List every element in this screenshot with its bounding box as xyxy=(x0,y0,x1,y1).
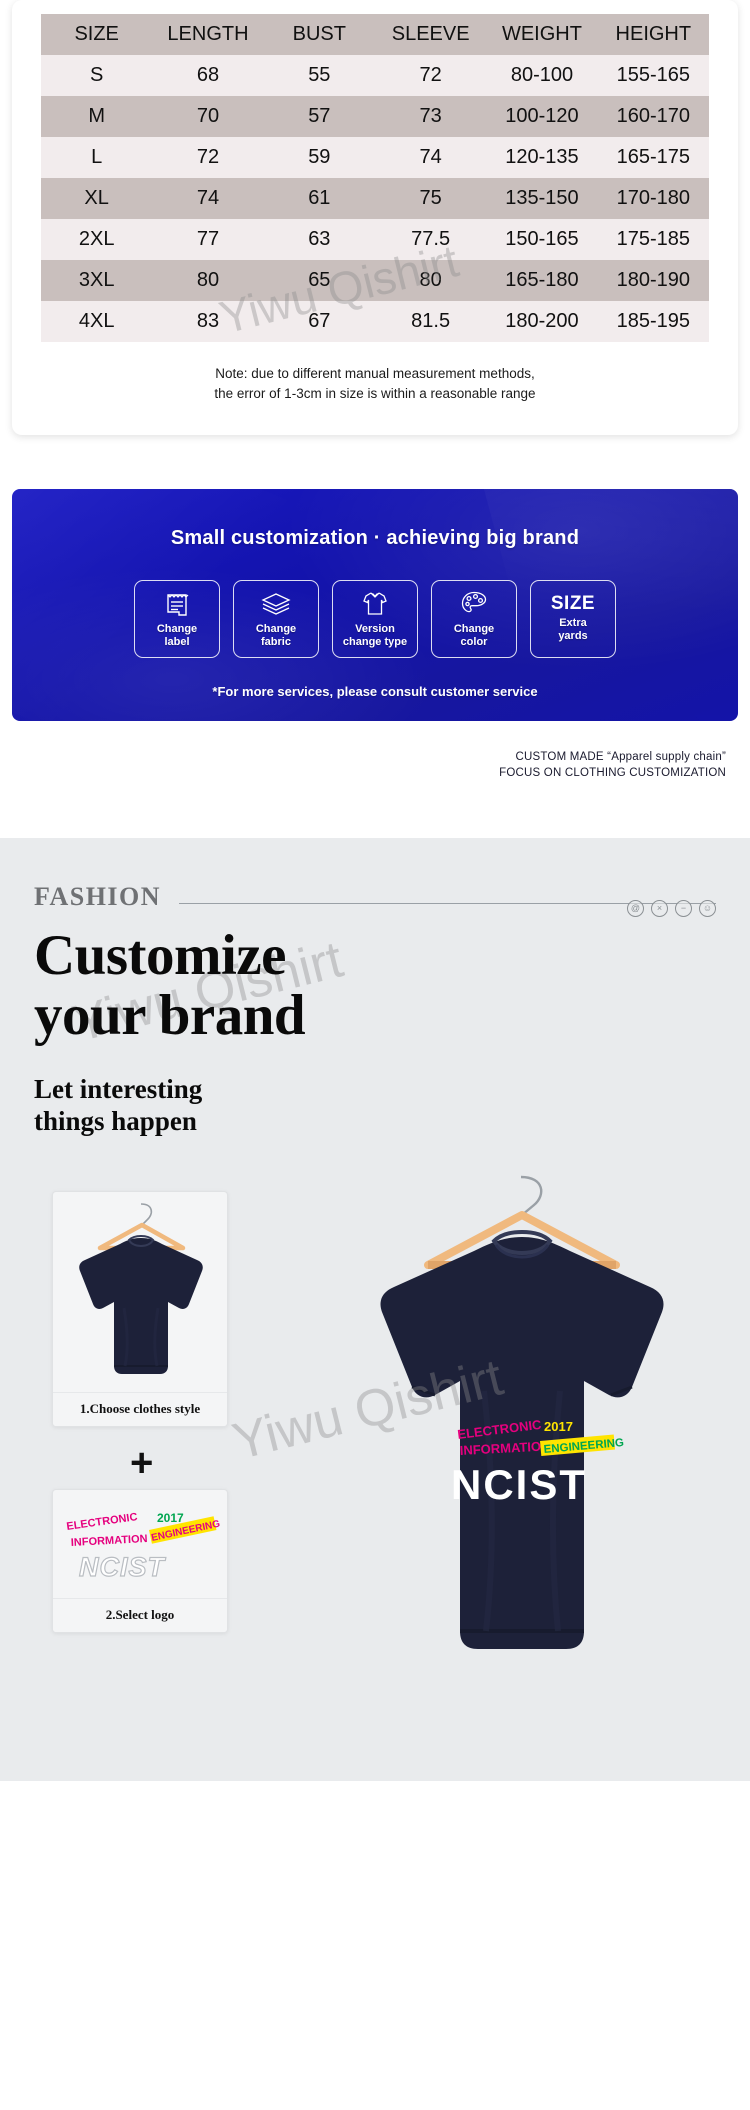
section-heading-row: FASHION xyxy=(34,882,716,912)
cell-sleeve: 73 xyxy=(375,96,486,137)
main-product-image: ELECTRONIC 2017 INFORMATION ENGINEERING … xyxy=(308,1161,738,1701)
cell-bust: 63 xyxy=(264,219,375,260)
cell-size: 4XL xyxy=(41,301,152,342)
cell-length: 83 xyxy=(152,301,263,342)
table-row: S 68 55 72 80-100 155-165 xyxy=(41,55,709,96)
sweatshirt-on-hanger-graphic: ELECTRONIC 2017 INFORMATION ENGINEERING … xyxy=(308,1161,738,1701)
service-option-change-fabric[interactable]: Change fabric xyxy=(233,580,319,658)
table-row: 4XL 83 67 81.5 180-200 185-195 xyxy=(41,301,709,342)
cell-bust: 65 xyxy=(264,260,375,301)
cell-height: 165-175 xyxy=(598,137,709,178)
fashion-kicker: FASHION xyxy=(34,882,161,912)
table-header-row: SIZE LENGTH BUST SLEEVE WEIGHT HEIGHT xyxy=(41,14,709,55)
column-header-length: LENGTH xyxy=(152,14,263,55)
cell-bust: 55 xyxy=(264,55,375,96)
table-row: L 72 59 74 120-135 165-175 xyxy=(41,137,709,178)
column-header-bust: BUST xyxy=(264,14,375,55)
cell-weight: 165-180 xyxy=(486,260,597,301)
cell-sleeve: 80 xyxy=(375,260,486,301)
minus-icon: − xyxy=(675,900,692,917)
column-header-sleeve: SLEEVE xyxy=(375,14,486,55)
cell-size: 3XL xyxy=(41,260,152,301)
cell-bust: 57 xyxy=(264,96,375,137)
cell-weight: 80-100 xyxy=(486,55,597,96)
banner-title: Small customization · achieving big bran… xyxy=(12,527,738,550)
plain-sweatshirt-graphic xyxy=(53,1192,228,1392)
cell-height: 185-195 xyxy=(598,301,709,342)
cell-sleeve: 75 xyxy=(375,178,486,219)
svg-text:INFORMATION: INFORMATION xyxy=(71,1533,148,1549)
smiley-icon: ☺ xyxy=(699,900,716,917)
logo-artwork-graphic: ELECTRONIC 2017 INFORMATION ENGINEERING … xyxy=(53,1490,228,1598)
style-thumbnail-image xyxy=(53,1192,227,1392)
custom-made-line-1: CUSTOM MADE “Apparel supply chain” xyxy=(12,749,726,766)
cell-weight: 100-120 xyxy=(486,96,597,137)
size-note-line-2: the error of 1-3cm in size is within a r… xyxy=(12,384,738,404)
size-measurement-note: Note: due to different manual measuremen… xyxy=(12,364,738,405)
customization-banner: Small customization · achieving big bran… xyxy=(12,489,738,721)
service-option-change-label[interactable]: Change label xyxy=(134,580,220,658)
custom-made-line-2: FOCUS ON CLOTHING CUSTOMIZATION xyxy=(12,765,726,782)
plus-icon: + xyxy=(130,1443,153,1483)
table-row: XL 74 61 75 135-150 170-180 xyxy=(41,178,709,219)
cell-size: S xyxy=(41,55,152,96)
label-icon xyxy=(165,589,189,619)
cell-length: 80 xyxy=(152,260,263,301)
printed-logo-artwork: ELECTRONIC 2017 INFORMATION ENGINEERING … xyxy=(451,1417,625,1508)
page-title: Customize your brand xyxy=(34,926,716,1047)
cell-height: 155-165 xyxy=(598,55,709,96)
cell-weight: 150-165 xyxy=(486,219,597,260)
customize-brand-section: Yiwu Qishirt @ × − ☺ FASHION Customize y… xyxy=(0,838,750,1782)
service-option-label: Change fabric xyxy=(256,623,296,648)
size-chart-table: SIZE LENGTH BUST SLEEVE WEIGHT HEIGHT S … xyxy=(41,14,709,342)
subheadline-line-1: Let interesting xyxy=(34,1073,716,1105)
table-row: M 70 57 73 100-120 160-170 xyxy=(41,96,709,137)
cell-height: 180-190 xyxy=(598,260,709,301)
close-icon: × xyxy=(651,900,668,917)
service-option-label: Change label xyxy=(157,623,197,648)
cell-length: 72 xyxy=(152,137,263,178)
size-chart-card: Yiwu Qishirt SIZE LENGTH BUST SLEEVE WEI… xyxy=(12,0,738,435)
service-option-label: Version change type xyxy=(343,623,407,648)
service-option-extra-yards[interactable]: SIZE Extra yards xyxy=(530,580,616,658)
at-icon: @ xyxy=(627,900,644,917)
logo-thumbnail-image: ELECTRONIC 2017 INFORMATION ENGINEERING … xyxy=(53,1490,227,1598)
step-caption: 2.Select logo xyxy=(53,1598,227,1632)
column-header-weight: WEIGHT xyxy=(486,14,597,55)
cell-length: 70 xyxy=(152,96,263,137)
service-option-label: Extra yards xyxy=(558,617,587,642)
banner-tail-decoration xyxy=(694,715,720,721)
cell-weight: 180-200 xyxy=(486,301,597,342)
svg-text:ELECTRONIC: ELECTRONIC xyxy=(66,1512,139,1534)
headline-line-1: Customize xyxy=(34,926,716,986)
cell-length: 77 xyxy=(152,219,263,260)
subheadline-line-2: things happen xyxy=(34,1105,716,1137)
cell-sleeve: 72 xyxy=(375,55,486,96)
table-row: 3XL 80 65 80 165-180 180-190 xyxy=(41,260,709,301)
cell-size: 2XL xyxy=(41,219,152,260)
custom-made-caption: CUSTOM MADE “Apparel supply chain” FOCUS… xyxy=(12,749,726,782)
cell-height: 160-170 xyxy=(598,96,709,137)
cell-weight: 120-135 xyxy=(486,137,597,178)
product-detail-page: Yiwu Qishirt SIZE LENGTH BUST SLEEVE WEI… xyxy=(0,0,750,1781)
svg-text:2017: 2017 xyxy=(157,1511,184,1525)
fabric-icon xyxy=(261,589,291,619)
svg-text:2017: 2017 xyxy=(544,1419,573,1434)
customization-banner-wrapper: Small customization · achieving big bran… xyxy=(12,489,738,782)
cell-height: 170-180 xyxy=(598,178,709,219)
size-text: SIZE xyxy=(551,594,595,613)
cell-sleeve: 74 xyxy=(375,137,486,178)
page-subtitle: Let interesting things happen xyxy=(34,1073,716,1138)
headline-line-2: your brand xyxy=(34,986,716,1046)
cell-bust: 61 xyxy=(264,178,375,219)
service-option-label: Change color xyxy=(454,623,494,648)
step-card-select-logo[interactable]: ELECTRONIC 2017 INFORMATION ENGINEERING … xyxy=(52,1489,228,1633)
svg-text:NCIST: NCIST xyxy=(451,1461,587,1508)
cell-length: 68 xyxy=(152,55,263,96)
service-option-change-color[interactable]: Change color xyxy=(431,580,517,658)
service-options-row: Change label Change fabric xyxy=(12,580,738,658)
banner-footnote: *For more services, please consult custo… xyxy=(12,684,738,699)
spacer xyxy=(0,435,750,489)
step-card-choose-style[interactable]: 1.Choose clothes style xyxy=(52,1191,228,1427)
column-header-height: HEIGHT xyxy=(598,14,709,55)
decorative-icons-row: @ × − ☺ xyxy=(627,900,716,917)
step-caption: 1.Choose clothes style xyxy=(53,1392,227,1426)
cell-size: XL xyxy=(41,178,152,219)
product-showcase: ELECTRONIC 2017 INFORMATION ENGINEERING … xyxy=(34,1161,716,1721)
spacer xyxy=(0,782,750,838)
cell-size: L xyxy=(41,137,152,178)
cell-length: 74 xyxy=(152,178,263,219)
table-row: 2XL 77 63 77.5 150-165 175-185 xyxy=(41,219,709,260)
cell-sleeve: 77.5 xyxy=(375,219,486,260)
column-header-size: SIZE xyxy=(41,14,152,55)
tshirt-icon xyxy=(362,589,388,619)
cell-height: 175-185 xyxy=(598,219,709,260)
svg-text:NCIST: NCIST xyxy=(79,1552,167,1582)
cell-bust: 59 xyxy=(264,137,375,178)
palette-icon xyxy=(461,589,487,619)
cell-size: M xyxy=(41,96,152,137)
service-option-version-change-type[interactable]: Version change type xyxy=(332,580,418,658)
cell-weight: 135-150 xyxy=(486,178,597,219)
cell-bust: 67 xyxy=(264,301,375,342)
size-note-line-1: Note: due to different manual measuremen… xyxy=(12,364,738,384)
cell-sleeve: 81.5 xyxy=(375,301,486,342)
